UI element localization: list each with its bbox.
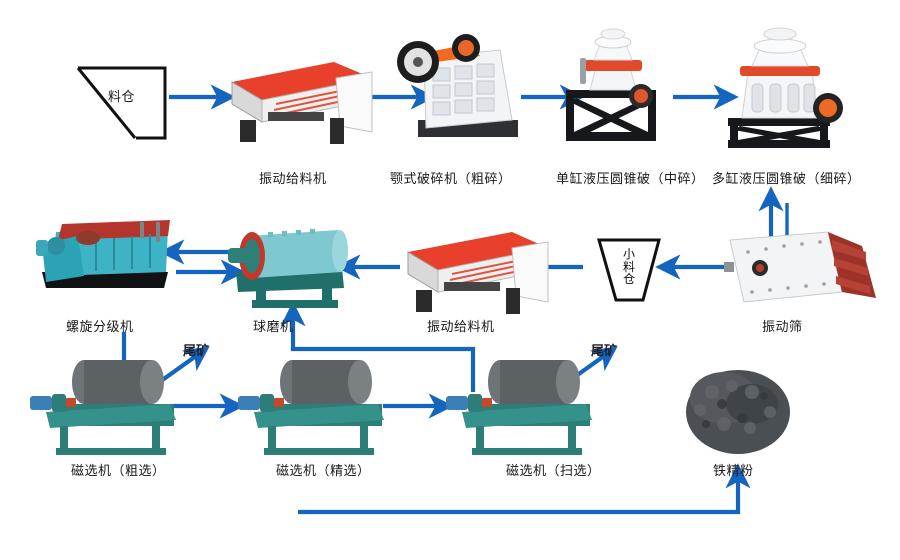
feed-bin-label: 料仓 [108, 86, 135, 105]
small-bin-label: 小 料 仓 [622, 248, 636, 286]
caption-cone-crusher-multi: 多缸液压圆锥破（细碎） [712, 168, 861, 187]
ball-mill-art [228, 229, 348, 308]
cone-crusher-multi-art [728, 28, 843, 148]
vibrating-feeder-1-art [232, 62, 372, 144]
caption-jaw-crusher: 颚式破碎机（粗碎） [390, 168, 512, 187]
vibrating-screen-art [724, 232, 876, 302]
caption-iron-concentrate: 铁精粉 [713, 460, 754, 479]
process-flow-diagram: 料仓 小 料 仓 振动给料机 颚式破碎机（粗碎） 单缸液压圆锥破（中碎） 多缸液… [0, 0, 900, 560]
caption-spiral-classifier: 螺旋分级机 [66, 316, 134, 335]
tailings-label-2: 尾矿 [591, 340, 617, 359]
small-bin-char-3: 仓 [623, 272, 635, 286]
caption-vibrating-feeder-1: 振动给料机 [259, 168, 327, 187]
vibrating-feeder-2-art [408, 232, 548, 314]
caption-vibrating-feeder-2: 振动给料机 [427, 316, 495, 335]
caption-magnetic-separator-rough: 磁选机（粗选） [71, 460, 166, 479]
spiral-classifier-art [36, 220, 170, 288]
magnetic-separator-rough-art [30, 360, 176, 455]
caption-vibrating-screen: 振动筛 [762, 316, 803, 335]
magnetic-separator-fine-art [238, 360, 384, 455]
caption-cone-crusher-single: 单缸液压圆锥破（中碎） [556, 168, 705, 187]
caption-ball-mill: 球磨机 [253, 316, 294, 335]
caption-magnetic-separator-fine: 磁选机（精选） [276, 460, 371, 479]
cone-crusher-single-art [566, 29, 656, 141]
iron-concentrate-art [686, 370, 790, 454]
tailings-label-1: 尾矿 [183, 340, 209, 359]
magnetic-separator-scavenge-art [446, 360, 592, 455]
caption-magnetic-separator-scavenge: 磁选机（扫选） [506, 460, 601, 479]
jaw-crusher-art [397, 34, 518, 137]
